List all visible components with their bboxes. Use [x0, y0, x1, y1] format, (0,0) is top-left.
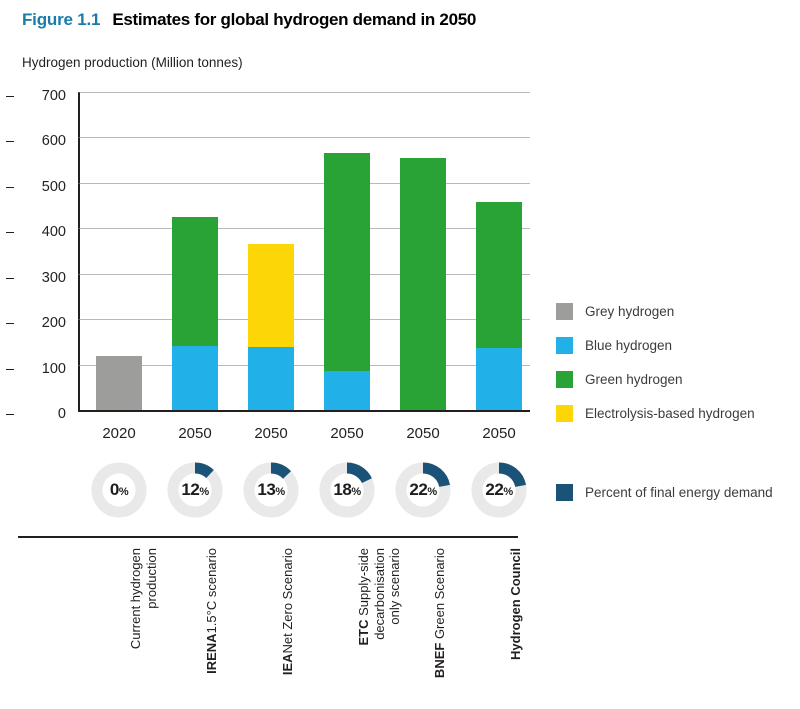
- section-divider: [18, 536, 518, 538]
- y-axis-title: Hydrogen production (Million tonnes): [22, 55, 243, 70]
- gridline-400: [78, 228, 530, 229]
- y-tick-label-200: 200: [14, 315, 66, 331]
- scenario-org: BNEF: [432, 643, 447, 678]
- scenario-label-row: Current hydrogenproductionIRENA1.5°C sce…: [78, 548, 530, 698]
- percent-donut-row: 0%12%13%18%22%22%: [78, 458, 530, 524]
- bar-column-2: [248, 244, 294, 410]
- percent-donut-3: 18%: [315, 458, 379, 522]
- legend-item-1: Blue hydrogen: [556, 328, 796, 362]
- scenario-text: Net Zero Scenario: [280, 548, 295, 654]
- scenario-label-0: Current hydrogenproduction: [128, 548, 174, 698]
- donut-number: 0: [110, 480, 119, 500]
- gridline-100: [78, 365, 530, 366]
- chart-plot-wrapper: 0100200300400500600700: [0, 88, 545, 418]
- y-tick-mark-500: [6, 187, 14, 188]
- scenario-line-1: decarbonisation: [372, 548, 388, 640]
- legend-item-3: Electrolysis-based hydrogen: [556, 396, 796, 430]
- gridline-200: [78, 319, 530, 320]
- bar-segment-green: [324, 153, 370, 371]
- y-tick-mark-100: [6, 369, 14, 370]
- y-tick-label-700: 700: [14, 88, 66, 104]
- x-tick-label-4: 2050: [391, 425, 455, 442]
- bar-segment-green: [400, 158, 446, 410]
- donut-value-label: 13%: [239, 458, 303, 522]
- y-tick-label-100: 100: [14, 361, 66, 377]
- percent-donut-0: 0%: [87, 458, 151, 522]
- scenario-label-2: IEANet Zero Scenario: [280, 548, 326, 698]
- percent-donut-5: 22%: [467, 458, 531, 522]
- donut-percent-sign: %: [275, 486, 284, 498]
- figure-number: Figure 1.1: [22, 10, 100, 30]
- bar-segment-grey: [96, 356, 142, 411]
- legend-swatch-3: [556, 405, 573, 422]
- scenario-label-4: BNEF Green Scenario: [432, 548, 478, 698]
- x-axis-baseline: [78, 410, 530, 412]
- y-tick-label-500: 500: [14, 179, 66, 195]
- legend-swatch-0: [556, 303, 573, 320]
- scenario-line-0: IRENA1.5°C scenario: [204, 548, 220, 674]
- donut-percent-sign: %: [351, 486, 360, 498]
- bar-column-5: [476, 202, 522, 410]
- donut-percent-sign: %: [503, 486, 512, 498]
- bar-column-1: [172, 217, 218, 410]
- y-tick-mark-0: [6, 414, 14, 415]
- percent-donut-1: 12%: [163, 458, 227, 522]
- x-tick-label-0: 2020: [87, 425, 151, 442]
- donut-value-label: 22%: [391, 458, 455, 522]
- scenario-text: Current hydrogen: [128, 548, 143, 649]
- scenario-text: Green Scenario: [432, 548, 447, 643]
- donut-value-label: 0%: [87, 458, 151, 522]
- donut-number: 22: [485, 480, 503, 500]
- legend-item-2: Green hydrogen: [556, 362, 796, 396]
- gridline-700: [78, 92, 530, 93]
- legend-swatch-2: [556, 371, 573, 388]
- legend-label-0: Grey hydrogen: [585, 304, 674, 319]
- percent-donut-2: 13%: [239, 458, 303, 522]
- donut-number: 22: [409, 480, 427, 500]
- donut-value-label: 18%: [315, 458, 379, 522]
- donut-percent-sign: %: [427, 486, 436, 498]
- scenario-org: IRENA: [204, 633, 219, 673]
- y-tick-label-600: 600: [14, 133, 66, 149]
- legend-label-percent: Percent of final energy demand: [585, 485, 773, 500]
- donut-number: 12: [181, 480, 199, 500]
- scenario-line-0: BNEF Green Scenario: [432, 548, 448, 678]
- gridline-300: [78, 274, 530, 275]
- x-axis-year-labels: 202020502050205020502050: [78, 425, 530, 447]
- y-tick-label-300: 300: [14, 270, 66, 286]
- x-tick-label-5: 2050: [467, 425, 531, 442]
- scenario-line-0: ETC Supply-side: [356, 548, 372, 646]
- page-title: Estimates for global hydrogen demand in …: [112, 10, 476, 30]
- donut-value-label: 12%: [163, 458, 227, 522]
- donut-number: 13: [257, 480, 275, 500]
- donut-value-label: 22%: [467, 458, 531, 522]
- percent-donut-4: 22%: [391, 458, 455, 522]
- y-tick-mark-400: [6, 232, 14, 233]
- donut-percent-sign: %: [119, 486, 128, 498]
- gridline-500: [78, 183, 530, 184]
- y-tick-mark-200: [6, 323, 14, 324]
- x-tick-label-3: 2050: [315, 425, 379, 442]
- legend-label-3: Electrolysis-based hydrogen: [585, 406, 755, 421]
- donut-percent-sign: %: [199, 486, 208, 498]
- scenario-line-0: IEANet Zero Scenario: [280, 548, 296, 675]
- scenario-label-3: ETC Supply-sidedecarbonisationonly scena…: [356, 548, 402, 698]
- plot-area: [78, 92, 530, 410]
- x-tick-label-1: 2050: [163, 425, 227, 442]
- legend-swatch-percent: [556, 484, 573, 501]
- bar-segment-yellow: [248, 244, 294, 347]
- y-axis-tick-labels: 0100200300400500600700: [10, 92, 66, 410]
- scenario-org: Hydrogen Council: [508, 548, 523, 660]
- legend-item-0: Grey hydrogen: [556, 294, 796, 328]
- scenario-org: ETC: [356, 620, 371, 646]
- y-tick-mark-600: [6, 141, 14, 142]
- legend-percent-item: Percent of final energy demand: [556, 484, 773, 501]
- scenario-text: Supply-side: [356, 548, 371, 620]
- bar-segment-blue: [476, 348, 522, 410]
- figure-title-bar: Figure 1.1 Estimates for global hydrogen…: [22, 10, 476, 30]
- x-tick-label-2: 2050: [239, 425, 303, 442]
- legend: Grey hydrogenBlue hydrogenGreen hydrogen…: [556, 294, 796, 430]
- y-tick-mark-300: [6, 278, 14, 279]
- bar-segment-green: [476, 202, 522, 348]
- scenario-org: IEA: [280, 654, 295, 676]
- gridline-600: [78, 137, 530, 138]
- scenario-label-5: Hydrogen Council: [508, 548, 554, 698]
- scenario-label-1: IRENA1.5°C scenario: [204, 548, 250, 698]
- scenario-line-0: Current hydrogen: [128, 548, 144, 649]
- y-tick-label-0: 0: [14, 406, 66, 422]
- legend-label-2: Green hydrogen: [585, 372, 683, 387]
- bar-segment-blue: [172, 346, 218, 410]
- bar-segment-blue: [324, 371, 370, 410]
- scenario-text: 1.5°C scenario: [204, 548, 219, 633]
- bar-segment-blue: [248, 347, 294, 410]
- donut-number: 18: [333, 480, 351, 500]
- bar-column-4: [400, 158, 446, 410]
- bar-segment-green: [172, 217, 218, 346]
- legend-swatch-1: [556, 337, 573, 354]
- bar-column-3: [324, 153, 370, 410]
- y-tick-mark-700: [6, 96, 14, 97]
- scenario-line-0: Hydrogen Council: [508, 548, 524, 660]
- scenario-line-1: production: [144, 548, 160, 609]
- scenario-line-2: only scenario: [387, 548, 403, 625]
- legend-label-1: Blue hydrogen: [585, 338, 672, 353]
- y-tick-label-400: 400: [14, 224, 66, 240]
- bar-column-0: [96, 356, 142, 411]
